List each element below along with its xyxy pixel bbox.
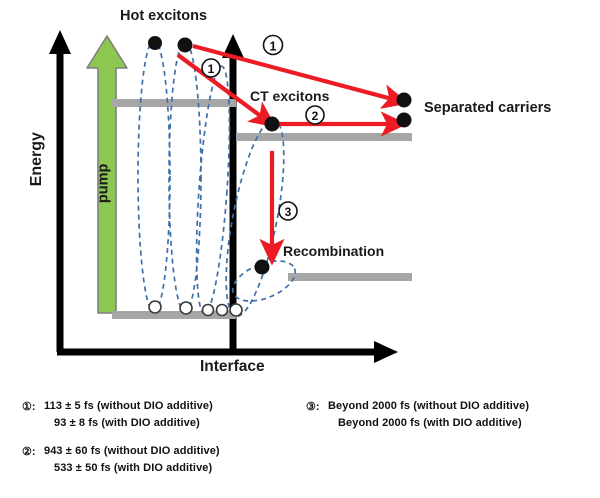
energy-levels [112,99,412,319]
label-x-axis-interface: Interface [200,358,265,376]
hole [149,301,161,313]
legend-line: Beyond 2000 fs (with DIO additive) [328,417,529,429]
electron-hot-exciton-2 [178,38,193,53]
label-y-axis-energy: Energy [28,114,46,204]
legend-line: 93 ± 8 fs (with DIO additive) [44,417,213,429]
svg-text:3: 3 [285,205,292,219]
hole [203,305,214,316]
legend-line: 533 ± 50 fs (with DIO additive) [44,462,220,474]
label-separated-carriers: Separated carriers [424,100,551,117]
legend-marker-2: ②: [22,445,44,458]
legend-marker-3: ③: [306,400,328,413]
energy-level-donor-lumo [112,99,236,107]
legend-lines-1: 113 ± 5 fs (without DIO additive) 93 ± 8… [44,400,213,429]
hole [180,302,192,314]
legend-entry-2: ②: 943 ± 60 fs (without DIO additive) 53… [22,445,220,474]
label-pump: pump [96,143,113,223]
svg-text:2: 2 [312,109,319,123]
legend-line: 943 ± 60 fs (without DIO additive) [44,445,220,457]
legend-entry-3: ③: Beyond 2000 fs (without DIO additive)… [306,400,529,429]
label-hot-excitons: Hot excitons [120,8,207,25]
legend-column-left: ①: 113 ± 5 fs (without DIO additive) 93 … [22,400,220,490]
legend-marker-1: ①: [22,400,44,413]
hole [217,305,228,316]
legend-lines-2: 943 ± 60 fs (without DIO additive) 533 ±… [44,445,220,474]
process-marker-2: 2 [306,106,324,124]
process-marker-1a: 1 [264,36,283,55]
energy-level-acceptor-ground [288,273,412,281]
electron-ct-exciton [265,117,280,132]
electrons [148,36,412,275]
legend-block: ①: 113 ± 5 fs (without DIO additive) 93 … [0,392,600,498]
energy-level-ct [236,133,412,141]
separated-carrier-dot-1 [397,93,412,108]
electron-hot-exciton-1 [148,36,162,50]
svg-text:1: 1 [208,62,215,76]
svg-text:1: 1 [270,40,277,54]
x-axis-arrowhead [374,341,398,363]
separated-carrier-dot-2 [397,113,412,128]
legend-entry-1: ①: 113 ± 5 fs (without DIO additive) 93 … [22,400,220,429]
process-marker-1b: 1 [202,59,220,77]
legend-line: 113 ± 5 fs (without DIO additive) [44,400,213,412]
exciton-ellipse-1 [138,40,170,312]
figure-canvas: 1 1 2 3 Hot excitons CT excitons Separat… [0,0,600,498]
process-marker-3: 3 [279,202,297,220]
legend-column-right: ③: Beyond 2000 fs (without DIO additive)… [306,400,529,445]
y-axis-arrowhead [49,30,71,54]
hole [230,304,242,316]
electron-recombination [255,260,270,275]
exciton-ellipse-2 [169,42,201,312]
legend-line: Beyond 2000 fs (without DIO additive) [328,400,529,412]
legend-lines-3: Beyond 2000 fs (without DIO additive) Be… [328,400,529,429]
exciton-outlines [138,40,301,320]
label-ct-excitons: CT excitons [250,88,329,104]
label-recombination: Recombination [283,243,384,259]
